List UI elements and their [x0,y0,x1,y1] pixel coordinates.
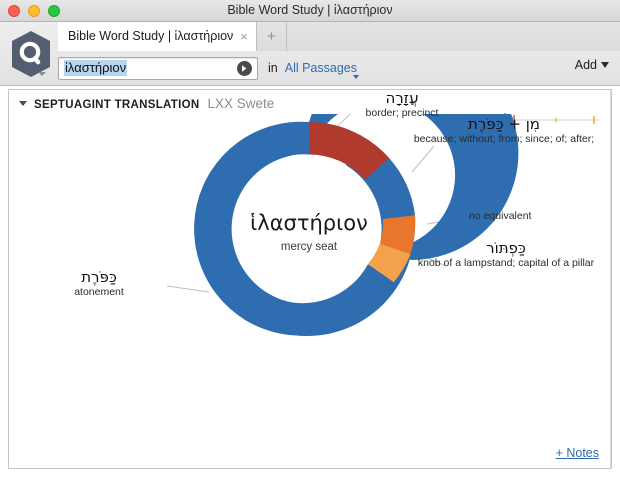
callout-min-kapporet-term: מִן + כַּפֹּרֶת [394,116,612,133]
search-input-value: ἱλαστήριον [64,60,127,76]
callout-kaftor-gloss: knob of a lampstand; capital of a pillar [401,257,611,270]
callout-min-kapporet[interactable]: מִן + כַּפֹּרֶת because; without; from; … [394,116,612,146]
app-icon-dropdown-caret[interactable] [38,72,46,76]
tab-bar: Bible Word Study | ἱλαστήριον × + [58,22,620,51]
search-scope-label: All Passages [285,61,357,75]
chevron-down-icon[interactable] [19,101,27,106]
window-titlebar: Bible Word Study | ἱλαστήριον [0,0,620,22]
search-scope-link[interactable]: All Passages [285,61,357,75]
chevron-down-icon [601,62,609,68]
callout-kaftor-term: כַּפְתּוֹר [401,240,611,257]
app-window: Bible Word Study | ἱλαστήριον Bible Word… [0,0,620,477]
content-panel: SEPTUAGINT TRANSLATION LXX Swete 27 [8,89,612,469]
callout-azarah-term: עֲזָרָה [332,90,472,107]
go-arrow-icon[interactable] [237,61,252,76]
callout-no-equivalent-term: no equivalent [469,210,612,223]
section-title: SEPTUAGINT TRANSLATION [34,99,199,111]
chevron-down-icon [353,75,359,79]
callout-kaftor[interactable]: כַּפְתּוֹר knob of a lampstand; capital … [401,240,611,270]
tab-label: Bible Word Study | ἱλαστήριον [68,29,233,43]
toolbar: Bible Word Study | ἱλαστήριον × + ἱλαστή… [0,22,620,86]
add-button-label: Add [575,58,597,72]
callout-no-equivalent[interactable]: no equivalent [469,210,612,223]
callout-kapporet-term: כַּפֹּרֶת [29,269,169,286]
chart-center-sublabel: mercy seat [281,241,338,253]
leader-line-min-kapporet [412,146,434,172]
new-tab-button[interactable]: + [257,22,287,51]
close-icon[interactable]: × [240,30,248,43]
section-subtitle: LXX Swete [207,96,274,111]
callout-min-kapporet-gloss: because; without; from; since; of; after… [394,133,612,146]
search-input[interactable]: ἱλαστήριον [58,57,258,80]
search-bar: ἱλαστήριον in All Passages Add [58,51,620,85]
add-button[interactable]: Add [575,58,609,72]
search-scope-preposition: in [268,61,278,75]
callout-kapporet-gloss: atonement [29,286,169,299]
callout-kapporet[interactable]: כַּפֹּרֶת atonement [29,269,169,299]
panel-right-edge [610,90,611,468]
septuagint-translation-chart: ἱλαστήριον mercy seat עֲזָרָה border; pr… [9,114,611,444]
add-notes-link[interactable]: + Notes [556,446,599,460]
window-title: Bible Word Study | ἱλαστήριον [0,0,620,21]
logos-hexagon-icon[interactable] [10,30,52,78]
tab-bar-filler [287,22,620,51]
chart-center-label: ἱλαστήριον [250,211,368,235]
section-header[interactable]: SEPTUAGINT TRANSLATION LXX Swete [19,96,274,111]
leader-line-kapporet [167,286,209,292]
tab-bible-word-study[interactable]: Bible Word Study | ἱλαστήριον × [58,22,257,51]
